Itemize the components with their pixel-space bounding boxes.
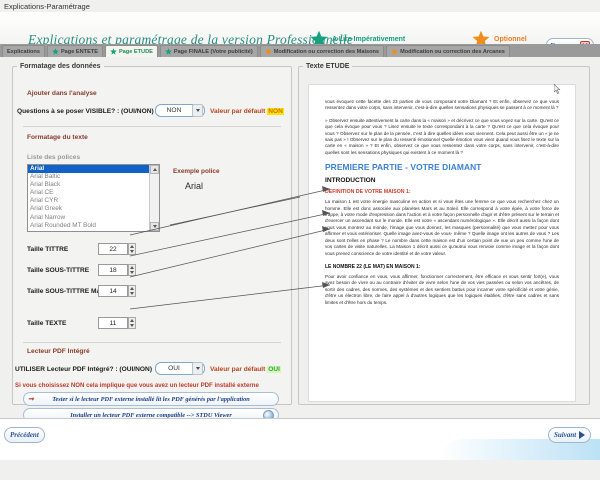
chevron-down-icon[interactable] (192, 362, 203, 375)
list-item[interactable]: Arial Black (28, 181, 149, 189)
texte-etude-title: Texte ETUDE (303, 63, 352, 70)
chevron-right-icon (579, 431, 585, 439)
tab-page-etude[interactable]: Page ETUDE (105, 45, 158, 57)
legend-must-read-label: A Lire Impérativement (332, 36, 405, 43)
taille-sous-tittre-maison-stepper[interactable] (128, 285, 136, 297)
list-item[interactable]: Arial (28, 165, 149, 173)
stepper-down-icon[interactable] (129, 291, 135, 296)
taille-tittre-stepper[interactable] (128, 243, 136, 255)
tab-page-entete[interactable]: Page ENTETE (47, 45, 103, 57)
utiliser-pdf-label: UTILISER Lecteur PDF Intégré? : (OUI/NON… (15, 366, 152, 373)
divider (23, 342, 281, 343)
document-heading-premiere-partie: PREMIERE PARTIE - VOTRE DIAMANT (325, 162, 559, 172)
document-paragraph: La maison 1 est votre énergie masculine … (325, 199, 559, 257)
pdf-default-prefix: Valeur par défault (210, 366, 265, 373)
taille-texte-stepper[interactable] (128, 317, 136, 329)
scroll-up-icon[interactable] (150, 165, 159, 174)
next-button[interactable]: Suivant (548, 427, 591, 443)
texte-etude-group: Texte ETUDE vous évoquez cette facette d… (298, 63, 590, 405)
tab-label: Page FINALE (Votre publicité) (174, 49, 253, 55)
question-default-value: NON (267, 108, 284, 115)
tab-modification-arcanes[interactable]: Modification ou correction des Arcanes (386, 45, 510, 57)
previous-button-label: Précédent (10, 431, 39, 439)
utiliser-pdf-select[interactable]: OUI (155, 362, 205, 375)
question-default-prefix: Valeur par défault (210, 108, 265, 115)
document-paragraph: Pour avoir confiance en vous, vous affir… (325, 274, 559, 306)
taille-tittre-label: Taille TITTRE (27, 246, 68, 253)
formatage-donnees-title: Formatage des données (17, 63, 104, 70)
document-heading-nombre-22: LE NOMBRE 22 (LE MAT) EN MAISON 1: (325, 264, 559, 270)
taille-sous-tittre-maison-input[interactable]: 14 (98, 285, 128, 297)
list-item[interactable]: Arial Greek (28, 205, 149, 213)
tab-bar[interactable]: Explications Page ENTETE Page ETUDE Page… (0, 44, 600, 57)
font-list-scrollbar[interactable] (149, 165, 159, 231)
list-item[interactable]: Arial Baltic (28, 173, 149, 181)
list-item[interactable]: Arial CE (28, 189, 149, 197)
font-list-items[interactable]: Arial Arial Baltic Arial Black Arial CE … (28, 165, 149, 231)
document-heading-introduction: INTRODUCTION (325, 177, 559, 184)
font-listbox[interactable]: Arial Arial Baltic Arial Black Arial CE … (27, 164, 160, 232)
star-green-icon (165, 48, 172, 55)
font-list-label: Liste des polices (27, 154, 80, 161)
taille-sous-tittre-input[interactable]: 18 (98, 264, 128, 276)
scroll-down-icon[interactable] (150, 222, 159, 231)
list-item[interactable]: Arial Rounded MT Bold (28, 222, 149, 230)
taille-texte-input[interactable]: 11 (98, 317, 128, 329)
bottom-strip (0, 460, 600, 480)
stepper-down-icon[interactable] (129, 249, 135, 254)
tab-label: Modification ou correction des Arcanes (400, 49, 505, 55)
next-button-label: Suivant (554, 431, 576, 439)
stepper-down-icon[interactable] (129, 270, 135, 275)
document-paragraph: vous évoquez cette facette des 23 partie… (325, 99, 559, 112)
document-paragraph: » Observez ensuite attentivement la cart… (325, 118, 559, 156)
tab-modification-maisons[interactable]: Modification ou correction des Maisons (260, 45, 384, 57)
tab-explications[interactable]: Explications (2, 45, 45, 57)
exemple-police-label: Exemple police (173, 168, 220, 175)
question-visible-label: Questions à se poser VISIBLE? : (OUI/NON… (17, 108, 154, 115)
star-green-icon (52, 48, 59, 55)
star-orange-icon (391, 48, 398, 55)
star-green-icon (110, 48, 117, 55)
tab-label: Page ENTETE (61, 49, 98, 55)
section-ajouter-analyse-label: Ajouter dans l'analyse (27, 90, 97, 97)
taille-texte-label: Taille TEXTE (27, 320, 66, 327)
previous-button[interactable]: Précédent (4, 427, 45, 443)
app-header: Explications et paramétrage de la versio… (0, 12, 600, 44)
taille-sous-tittre-label: Taille SOUS-TITTRE (27, 267, 89, 274)
pdf-default-label: Valeur par défault OUI (210, 366, 281, 373)
window-title: Explications-Paramétrage (4, 2, 90, 11)
texte-etude-document[interactable]: vous évoquez cette facette des 23 partie… (308, 84, 576, 402)
legend-optional-label: Optionnel (494, 36, 527, 43)
footer-bar: Précédent Suivant (0, 418, 600, 461)
chevron-down-icon[interactable] (192, 104, 203, 117)
stepper-down-icon[interactable] (129, 323, 135, 328)
main-content: Formatage des données Ajouter dans l'ana… (0, 57, 600, 418)
formatage-donnees-group: Formatage des données Ajouter dans l'ana… (12, 63, 292, 405)
pdf-warning-text: Si vous choisissez NON cela implique que… (15, 382, 259, 389)
section-formatage-texte-label: Formatage du texte (27, 134, 88, 141)
document-heading-definition-maison: DEFINITION DE VOTRE MAISON 1: (325, 189, 559, 195)
tab-label: Page ETUDE (119, 49, 153, 55)
tester-lecteur-pdf-label: Tester si le lecteur PDF externe install… (52, 396, 250, 403)
divider (23, 126, 281, 127)
taille-sous-tittre-stepper[interactable] (128, 264, 136, 276)
question-default-label: Valeur par défault NON (210, 108, 284, 115)
tab-label: Modification ou correction des Maisons (274, 49, 379, 55)
tab-page-finale[interactable]: Page FINALE (Votre publicité) (160, 45, 258, 57)
tab-label: Explications (7, 49, 40, 55)
list-item[interactable]: Arial CYR (28, 197, 149, 205)
exemple-police-sample: Arial (185, 181, 203, 191)
arrow-right-icon: ➞ (28, 395, 34, 403)
question-visible-select[interactable]: NON (155, 104, 205, 117)
tester-lecteur-pdf-button[interactable]: ➞ Tester si le lecteur PDF externe insta… (23, 392, 279, 406)
list-item[interactable]: Arial Narrow (28, 214, 149, 222)
pdf-default-value: OUI (267, 366, 281, 373)
utiliser-pdf-value: OUI (156, 365, 192, 372)
taille-tittre-input[interactable]: 22 (98, 243, 128, 255)
question-visible-value: NON (156, 107, 192, 114)
section-lecteur-pdf-label: Lecteur PDF Intégré (27, 348, 90, 355)
mouse-cursor-icon (554, 84, 562, 95)
star-orange-icon (265, 48, 272, 55)
